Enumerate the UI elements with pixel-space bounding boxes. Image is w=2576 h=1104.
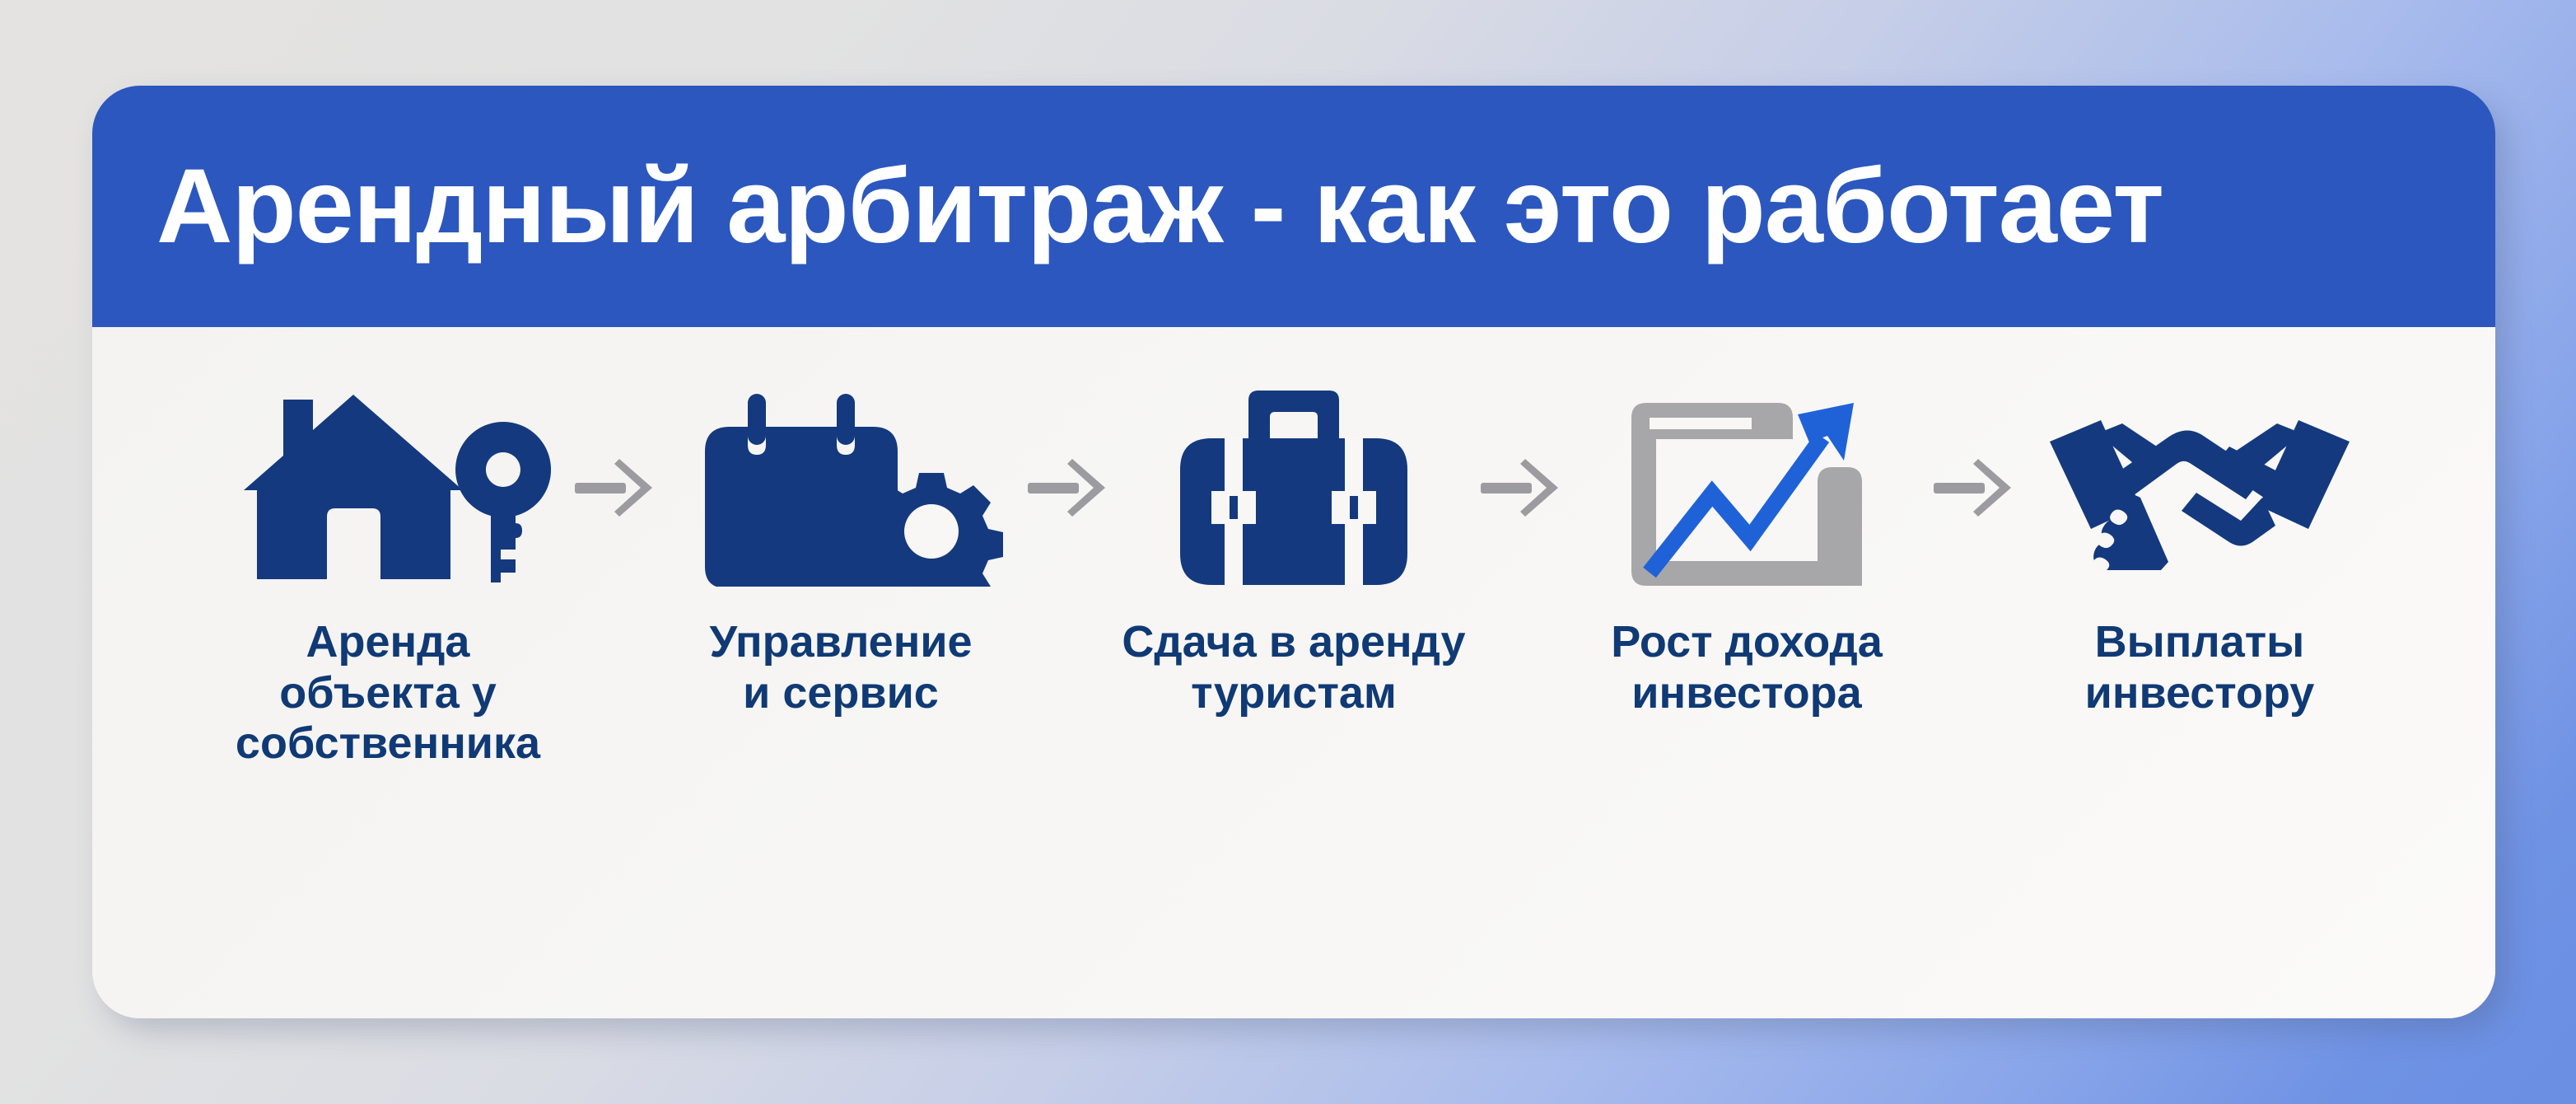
page-title: Арендный арбитраж - как это работает xyxy=(156,154,2163,260)
suitcase-icon xyxy=(1170,385,1417,591)
calendar-with-gear-icon xyxy=(672,385,1010,591)
step-item-5[interactable]: Выплаты инвестору xyxy=(2023,385,2377,718)
arrow-separator-1 xyxy=(565,385,664,591)
step-item-2[interactable]: Управление и сервис xyxy=(664,385,1018,718)
step-item-4[interactable]: Рост дохода инвестора xyxy=(1570,385,1924,718)
right-arrow-icon xyxy=(1481,459,1558,517)
handshake-icon xyxy=(2043,385,2356,591)
arrow-separator-4 xyxy=(1924,385,2023,591)
step-label-1: Аренда объекта у собственника xyxy=(236,617,540,770)
right-arrow-icon xyxy=(1028,459,1105,517)
arrow-separator-2 xyxy=(1018,385,1117,591)
steps-row: Аренда объекта у собственника xyxy=(92,327,2495,1018)
step-label-5: Выплаты инвестору xyxy=(2085,617,2315,718)
step-label-3: Сдача в аренду туристам xyxy=(1122,617,1465,718)
right-arrow-icon xyxy=(1934,459,2011,517)
step-label-2: Управление и сервис xyxy=(709,617,972,718)
right-arrow-icon xyxy=(575,459,652,517)
arrow-separator-3 xyxy=(1471,385,1570,591)
growth-chart-icon xyxy=(1615,385,1878,591)
step-label-4: Рост дохода инвестора xyxy=(1611,617,1883,718)
step-item-3[interactable]: Сдача в аренду туристам xyxy=(1117,385,1471,718)
header-band: Арендный арбитраж - как это работает xyxy=(92,86,2495,327)
infographic-card: Арендный арбитраж - как это работает Аре… xyxy=(92,86,2495,1018)
step-item-1[interactable]: Аренда объекта у собственника xyxy=(211,385,565,770)
house-with-key-icon xyxy=(219,385,557,591)
